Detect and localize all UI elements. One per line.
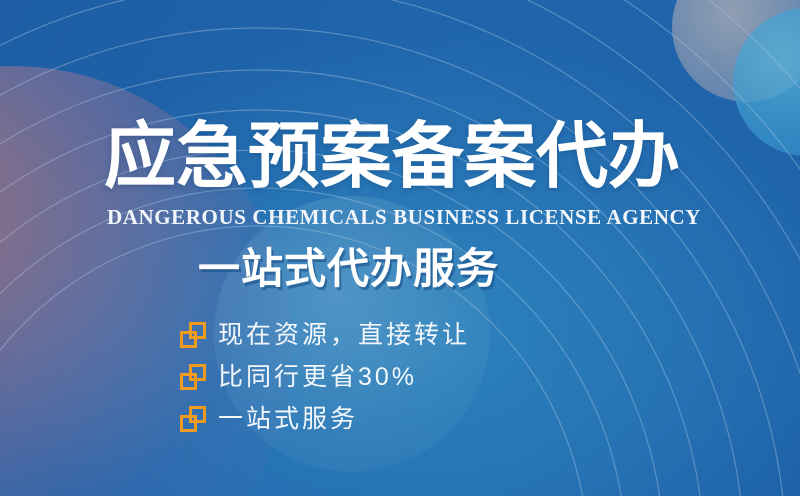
list-item: 现在资源，直接转让 [180,316,470,354]
double-square-icon [180,406,206,432]
list-item: 一站式服务 [180,400,470,438]
list-item-label: 比同行更省30% [218,362,417,392]
double-square-icon [180,322,206,348]
promotional-banner: 应急预案备案代办 DANGEROUS CHEMICALS BUSINESS LI… [0,0,800,496]
english-subtitle: DANGEROUS CHEMICALS BUSINESS LICENSE AGE… [100,205,708,230]
banner-content: 应急预案备案代办 DANGEROUS CHEMICALS BUSINESS LI… [0,0,800,496]
list-item-label: 一站式服务 [218,404,358,434]
double-square-icon [180,364,206,390]
feature-list: 现在资源，直接转让 比同行更省30% 一站式服务 [180,316,470,442]
list-item: 比同行更省30% [180,358,470,396]
list-item-label: 现在资源，直接转让 [218,320,470,350]
page-title: 应急预案备案代办 [104,118,704,196]
service-headline: 一站式代办服务 [198,246,499,292]
